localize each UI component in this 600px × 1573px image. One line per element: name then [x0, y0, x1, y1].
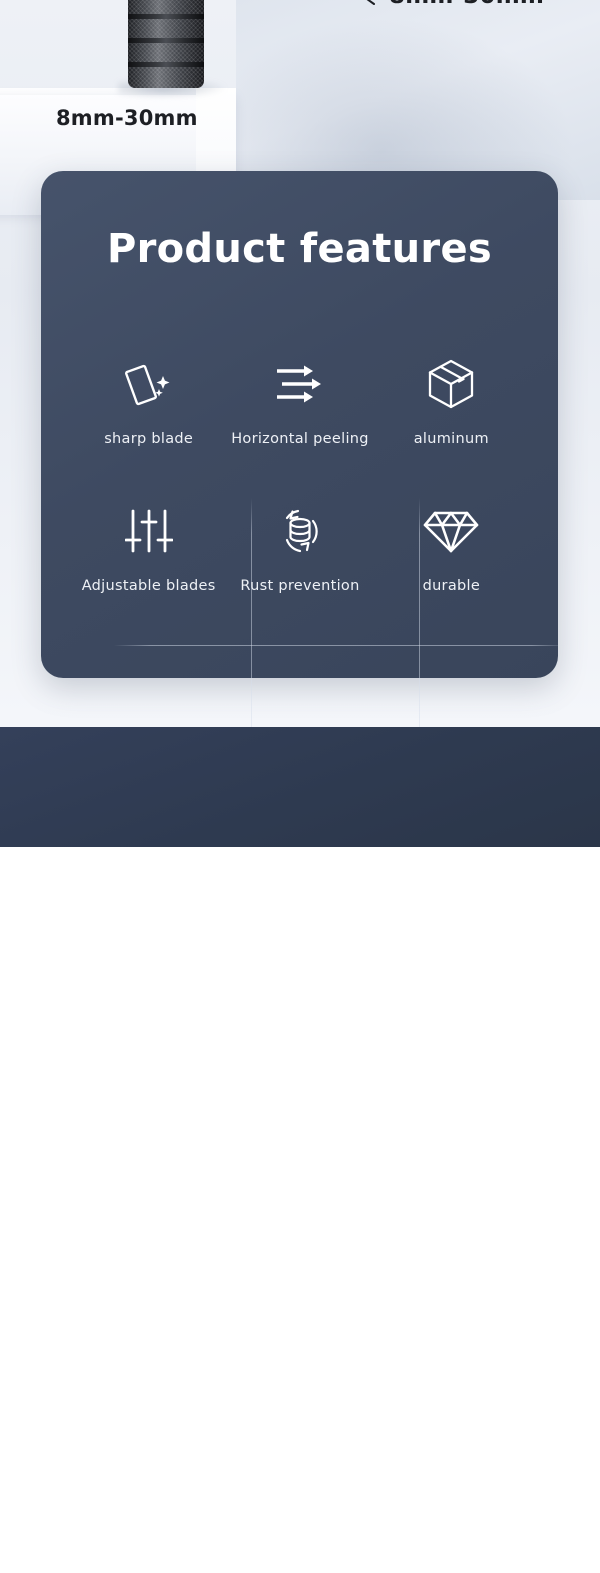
tool-groove [128, 38, 204, 43]
rust-prevention-icon [271, 502, 329, 560]
feature-label: aluminum [414, 431, 489, 447]
features-grid: sharp blade Horizontal peeling [73, 327, 527, 621]
grid-divider-horizontal [114, 645, 568, 646]
tool-groove [128, 62, 204, 67]
feature-label: Rust prevention [240, 578, 359, 594]
feature-label: Adjustable blades [82, 578, 216, 594]
wire-stripper-tool [128, 0, 204, 92]
features-title: Product features [41, 226, 558, 272]
feature-label: sharp blade [104, 431, 193, 447]
slider-controls-icon [120, 502, 178, 560]
product-features-card: Product features sharp blade [41, 171, 558, 678]
simple-operation-title: Simple operation [0, 1513, 600, 1573]
feature-item-rust-prevention: Rust prevention [224, 474, 375, 621]
diamond-icon [422, 502, 480, 560]
feature-item-durable: durable [376, 474, 527, 621]
horizontal-arrows-icon [271, 355, 329, 413]
feature-label: Horizontal peeling [231, 431, 369, 447]
measurement-arrow-icon [366, 0, 386, 6]
size-label-top: 8mm-30mm [389, 0, 544, 9]
tool-groove [128, 14, 204, 19]
feature-item-horizontal-peeling: Horizontal peeling [224, 327, 375, 474]
feature-label: durable [423, 578, 481, 594]
simple-operation-section: Simple operation [0, 727, 600, 847]
size-label-left: 8mm-30mm [56, 106, 198, 130]
tool-knurled-body [128, 0, 204, 88]
cube-box-icon [422, 355, 480, 413]
feature-item-aluminum: aluminum [376, 327, 527, 474]
feature-item-adjustable-blades: Adjustable blades [73, 474, 224, 621]
sharp-blade-icon [120, 355, 178, 413]
background-wall-panel [236, 0, 600, 200]
feature-item-sharp-blade: sharp blade [73, 327, 224, 474]
